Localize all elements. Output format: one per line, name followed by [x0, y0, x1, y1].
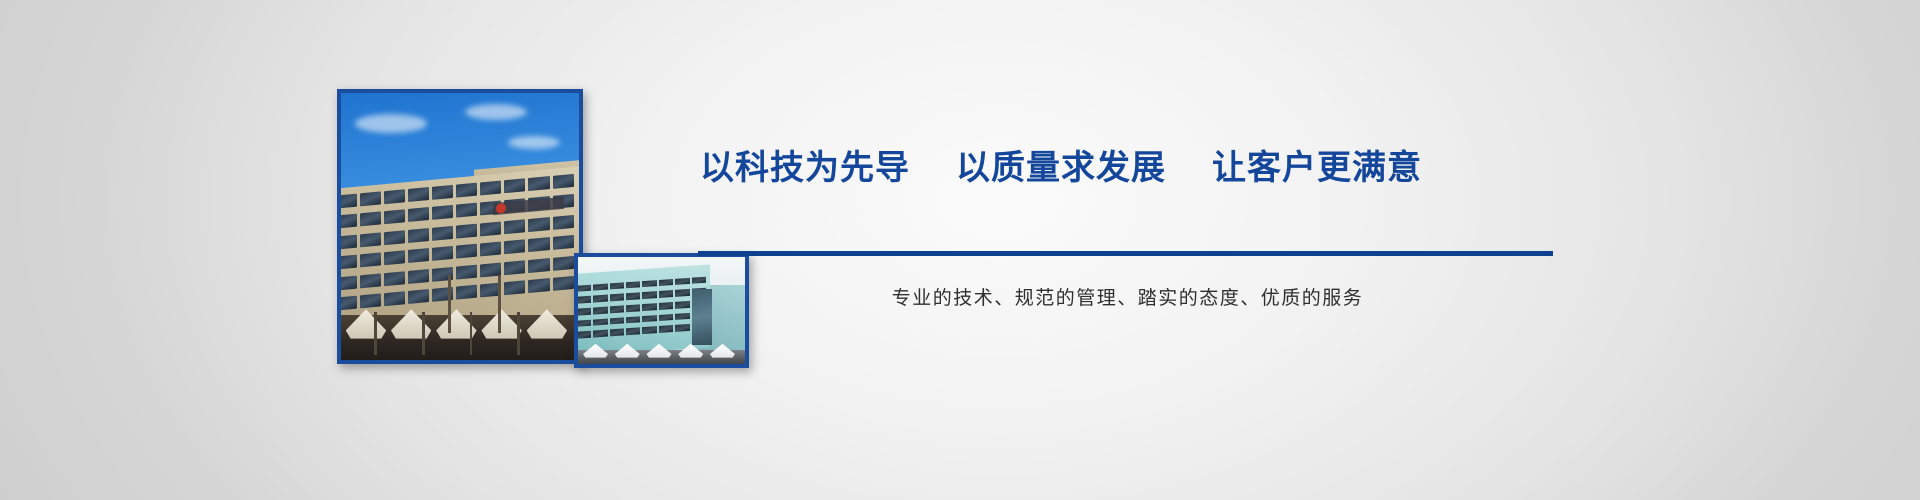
headline-segment-1: 以科技为先导: [700, 140, 910, 189]
pole-shape: [422, 312, 425, 355]
headline-segment-3: 让客户更满意: [1212, 140, 1422, 189]
tree-shape: [448, 275, 451, 334]
main-building-photo: [337, 89, 583, 364]
tree-shape: [498, 275, 501, 334]
headline-slogan: 以科技为先导 以质量求发展 让客户更满意: [700, 140, 1600, 189]
main-photo-image: [341, 93, 579, 360]
building-facade: [578, 265, 710, 358]
cloud-shape: [355, 114, 426, 133]
banner-text-block: 以科技为先导 以质量求发展 让客户更满意 专业的技术、规范的管理、踏实的态度、优…: [700, 0, 1700, 500]
headline-segment-2: 以质量求发展: [956, 140, 1166, 189]
pole-shape: [374, 312, 377, 355]
company-banner: 以科技为先导 以质量求发展 让客户更满意 专业的技术、规范的管理、踏实的态度、优…: [0, 0, 1920, 500]
cloud-shape: [508, 136, 560, 149]
photo-collage: [0, 0, 760, 500]
pole-shape: [517, 312, 520, 355]
pole-shape: [470, 312, 473, 355]
subtitle-text: 专业的技术、规范的管理、踏实的态度、优质的服务: [700, 283, 1555, 310]
horizontal-divider: [698, 251, 1553, 256]
cloud-shape: [465, 104, 527, 120]
